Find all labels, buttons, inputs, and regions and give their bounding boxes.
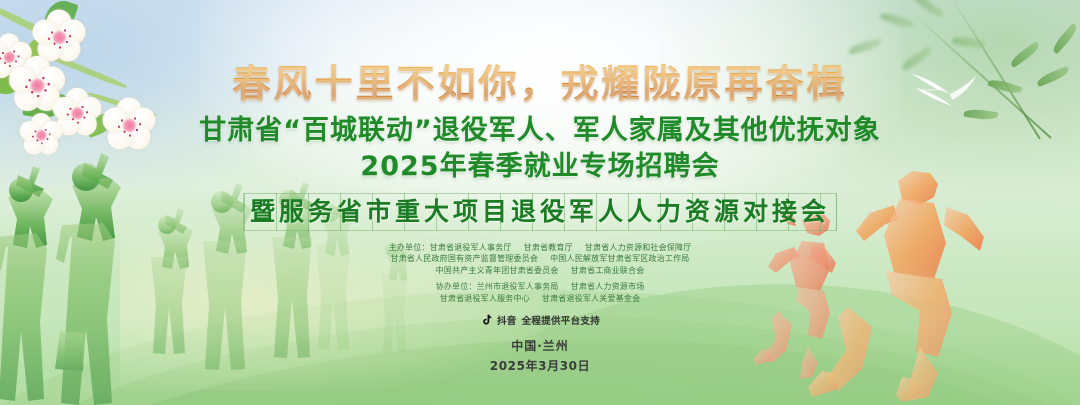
recruitment-poster: 春风十里不如你，戎耀陇原再奋楫 甘肃省“百城联动”退役军人、军人家属及其他优抚对… [0,0,1080,405]
poster-text-block: 春风十里不如你，戎耀陇原再奋楫 甘肃省“百城联动”退役军人、军人家属及其他优抚对… [0,0,1080,374]
poster-subtitle-line1: 甘肃省“百城联动”退役军人、军人家属及其他优抚对象 [0,115,1080,147]
sponsor-brand: 抖音 [497,313,517,327]
douyin-icon [480,314,492,327]
host-org-4: 甘肃省人民政府国有资产监督管理委员会 [390,254,538,263]
cohost-label: 协办单位： [436,282,477,291]
credit-row-cohost-1: 协办单位：兰州市退役军人事务局甘肃省人力资源市场 [0,281,1080,292]
cohost-org-1: 兰州市退役军人事务局 [477,282,559,291]
sponsor-text: 全程提供平台支持 [522,313,600,327]
event-date: 2025年3月30日 [0,357,1080,374]
poster-subtitle-line2: 2025年春季就业专场招聘会 [0,151,1080,183]
credit-row-host-3: 中国共产主义青年团甘肃省委员会甘肃省工商业联合会 [0,265,1080,276]
host-org-6: 中国共产主义青年团甘肃省委员会 [436,266,559,275]
credit-row-host-1: 主办单位：甘肃省退役军人事务厅甘肃省教育厅甘肃省人力资源和社会保障厅 [0,242,1080,253]
sponsor-line: 抖音 全程提供平台支持 [0,313,1080,327]
host-org-2: 甘肃省教育厅 [524,243,573,252]
host-label: 主办单位： [389,243,430,252]
host-org-1: 甘肃省退役军人事务厅 [430,243,512,252]
host-org-7: 甘肃省工商业联合会 [571,266,645,275]
cohost-org-2: 甘肃省人力资源市场 [571,282,645,291]
cohost-org-3: 甘肃省退役军人服务中心 [440,294,530,303]
credit-row-host-2: 甘肃省人民政府国有资产监督管理委员会中国人民解放军甘肃省军区政治工作局 [0,253,1080,264]
credit-row-cohost-2: 甘肃省退役军人服务中心甘肃省退役军人关爱基金会 [0,293,1080,304]
host-org-3: 甘肃省人力资源和社会保障厅 [585,243,692,252]
cohost-org-4: 甘肃省退役军人关爱基金会 [542,294,640,303]
poster-headline: 春风十里不如你，戎耀陇原再奋楫 [0,62,1080,106]
credits-block: 主办单位：甘肃省退役军人事务厅甘肃省教育厅甘肃省人力资源和社会保障厅 甘肃省人民… [0,242,1080,304]
host-org-5: 中国人民解放军甘肃省军区政治工作局 [550,254,689,263]
event-location: 中国·兰州 [0,337,1080,354]
poster-subtitle-line3: 暨服务省市重大项目退役军人人力资源对接会 [243,193,837,231]
